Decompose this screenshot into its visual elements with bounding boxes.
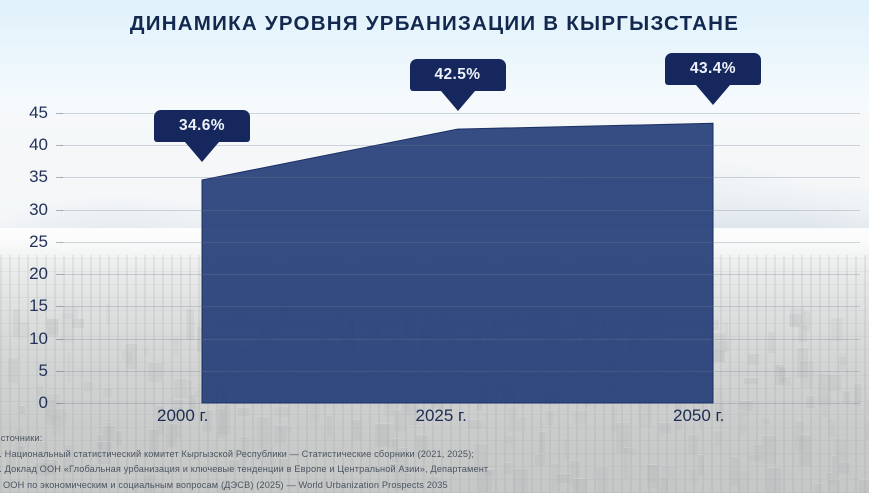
y-axis-label: 10 (0, 330, 48, 347)
y-axis-label: 5 (0, 362, 48, 379)
x-axis-label-2: 2050 г. (673, 406, 724, 426)
y-axis-tick (56, 113, 63, 114)
data-callout-2050-label: 43.4% (665, 53, 761, 85)
infographic-slide: ДИНАМИКА УРОВНЯ УРБАНИЗАЦИИ В КЫРГЫЗСТАН… (0, 0, 869, 493)
y-axis-tick (56, 339, 63, 340)
y-axis-label: 20 (0, 265, 48, 282)
gridline (62, 274, 860, 275)
gridline (62, 339, 860, 340)
y-axis-label: 15 (0, 297, 48, 314)
data-callout-2000[interactable]: 34.6% (154, 110, 250, 162)
y-axis-tick (56, 210, 63, 211)
gridline (62, 371, 860, 372)
y-axis-tick (56, 177, 63, 178)
gridline (62, 177, 860, 178)
source-line-3: ООН по экономическим и социальным вопрос… (0, 478, 694, 493)
x-axis-label-1: 2025 г. (416, 406, 467, 426)
gridline (62, 403, 860, 404)
data-callout-2000-label: 34.6% (154, 110, 250, 142)
sources-heading: Источники: (0, 431, 694, 447)
y-axis-tick (56, 274, 63, 275)
y-axis-tick (56, 145, 63, 146)
y-axis-label: 45 (0, 104, 48, 121)
sources-block: Источники: 1. Национальный статистически… (0, 431, 694, 493)
data-callout-2025[interactable]: 42.5% (410, 59, 506, 111)
y-axis-tick (56, 242, 63, 243)
x-axis-label-0: 2000 г. (157, 406, 208, 426)
source-line-2: 2. Доклад ООН «Глобальная урбанизация и … (0, 462, 694, 478)
callout-pointer-icon (696, 85, 730, 105)
y-axis-label: 40 (0, 136, 48, 153)
y-axis-label: 30 (0, 201, 48, 218)
y-axis-label: 25 (0, 233, 48, 250)
source-line-1: 1. Национальный статистический комитет К… (0, 447, 694, 463)
y-axis-label: 0 (0, 394, 48, 411)
y-axis-tick (56, 403, 63, 404)
y-axis-label: 35 (0, 168, 48, 185)
gridline (62, 306, 860, 307)
gridline (62, 242, 860, 243)
gridline (62, 210, 860, 211)
callout-pointer-icon (185, 142, 219, 162)
y-axis-tick (56, 306, 63, 307)
y-axis-tick (56, 371, 63, 372)
data-callout-2025-label: 42.5% (410, 59, 506, 91)
data-callout-2050[interactable]: 43.4% (665, 53, 761, 105)
callout-pointer-icon (441, 91, 475, 111)
